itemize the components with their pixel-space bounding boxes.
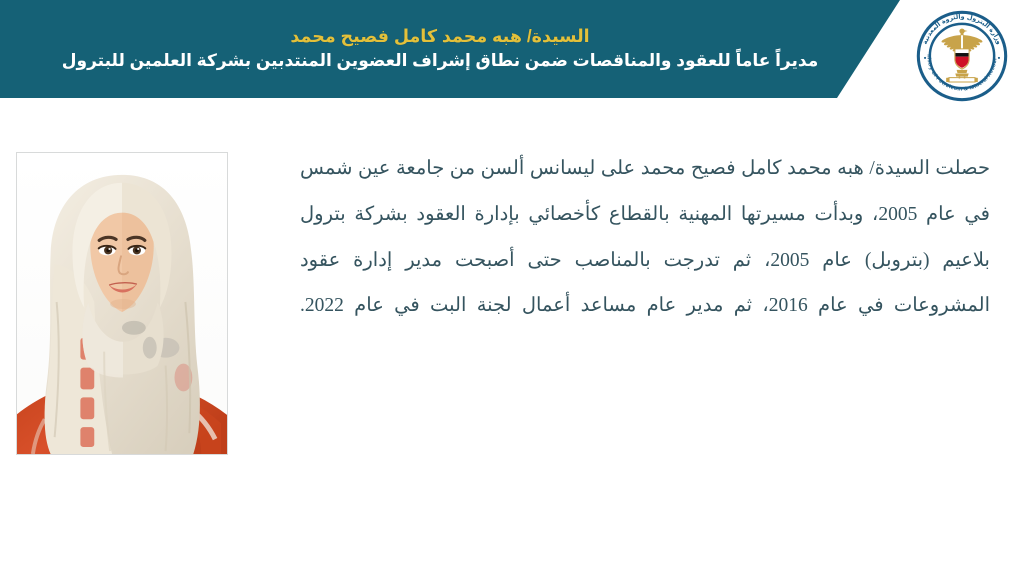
biography-block: حصلت السيدة/ هبه محمد كامل فصيح محمد على…	[300, 146, 990, 329]
portrait-photo	[16, 152, 228, 455]
biography-paragraph: حصلت السيدة/ هبه محمد كامل فصيح محمد على…	[300, 146, 990, 329]
portrait-photo-canvas	[17, 153, 227, 454]
header-banner	[0, 0, 900, 98]
slide-root: السيدة/ هبه محمد كامل فصيح محمد مديراً ع…	[0, 0, 1024, 575]
ministry-seal-logo: وزارة البترول والثروة المعدنية Ministry …	[914, 8, 1010, 104]
